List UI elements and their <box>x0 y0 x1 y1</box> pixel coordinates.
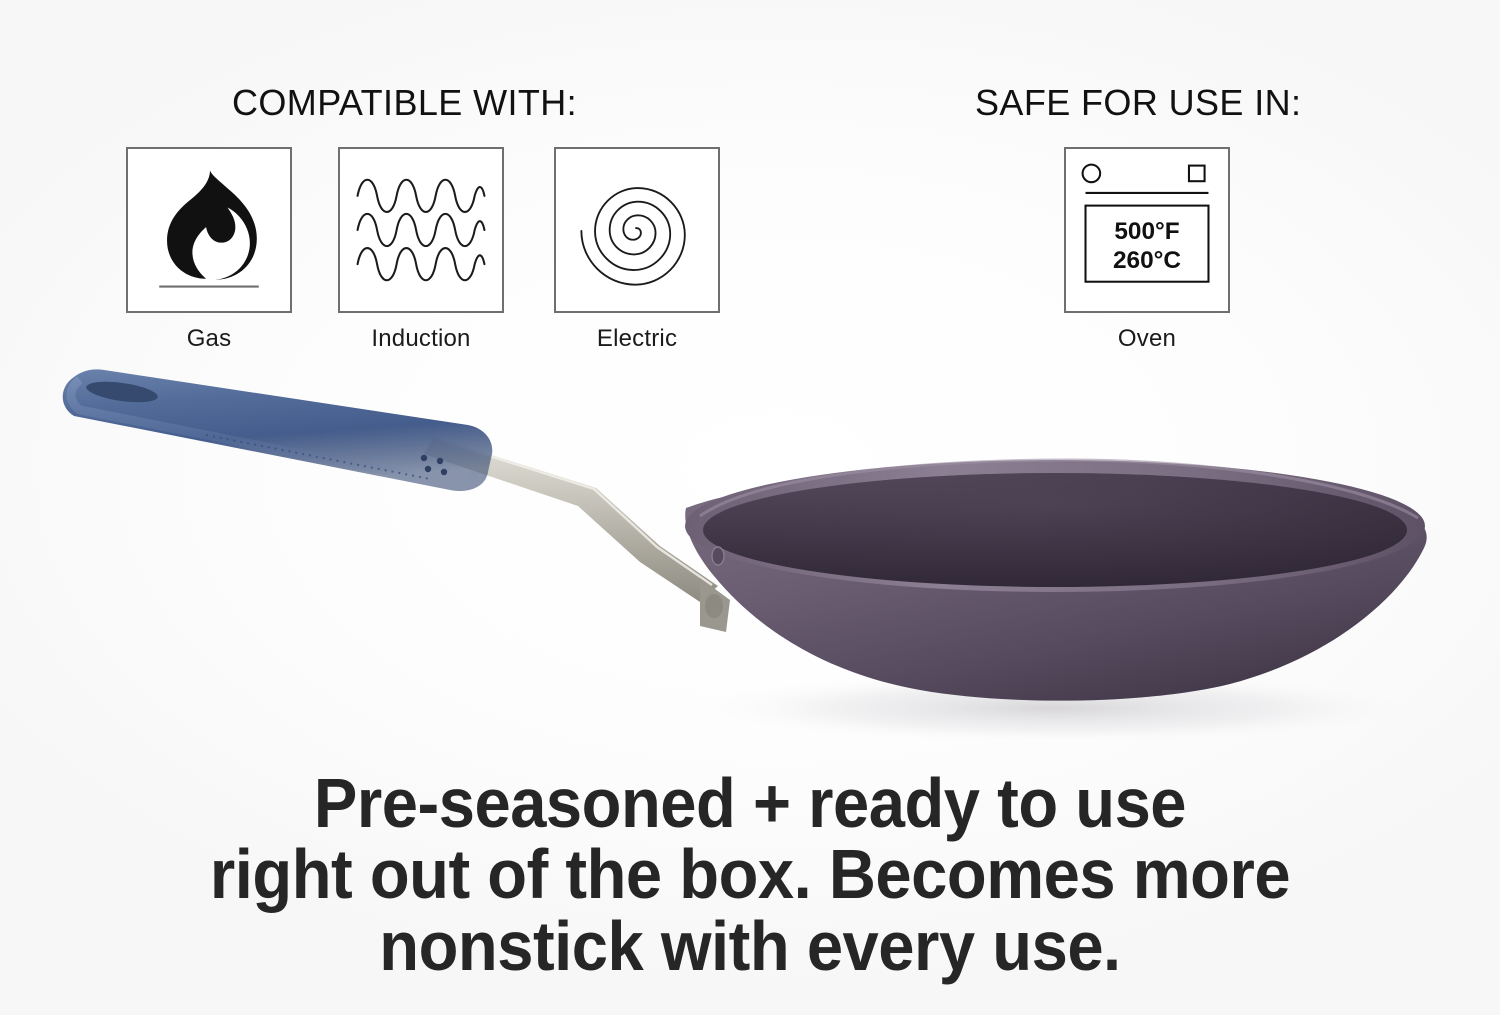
flame-icon <box>128 149 290 311</box>
safe-use-item-oven: 500°F 260°C Oven <box>1064 147 1230 353</box>
induction-waves-icon <box>340 149 502 311</box>
induction-icon-box <box>338 147 504 313</box>
headline-line-1: Pre-seasoned + ready to use <box>53 768 1448 839</box>
electric-icon-box <box>554 147 720 313</box>
oven-icon-box: 500°F 260°C <box>1064 147 1230 313</box>
compatibility-item-induction: Induction <box>338 147 504 353</box>
pan-interior-sheen <box>703 473 1407 587</box>
gas-icon-box <box>126 147 292 313</box>
oven-knob-square-icon <box>1189 166 1205 182</box>
oven-temp-fahrenheit: 500°F <box>1114 218 1179 245</box>
compatible-with-heading: COMPATIBLE WITH: <box>232 82 577 124</box>
spiral-coil-icon <box>556 149 718 311</box>
pan-rivet <box>712 547 724 565</box>
headline-line-3: nonstick with every use. <box>53 911 1448 982</box>
frying-pan-image <box>0 340 1500 760</box>
product-infographic: COMPATIBLE WITH: SAFE FOR USE IN: Gas In… <box>0 0 1500 1015</box>
oven-temp-celsius: 260°C <box>1113 247 1181 274</box>
safe-for-use-heading: SAFE FOR USE IN: <box>975 82 1301 124</box>
pan-silicone-handle <box>63 369 493 491</box>
headline-line-2: right out of the box. Becomes more <box>53 839 1448 910</box>
compatibility-item-electric: Electric <box>554 147 720 353</box>
oven-icon: 500°F 260°C <box>1066 149 1228 311</box>
oven-knob-circle-icon <box>1083 165 1101 183</box>
headline: Pre-seasoned + ready to use right out of… <box>53 768 1448 982</box>
compatibility-item-gas: Gas <box>126 147 292 353</box>
